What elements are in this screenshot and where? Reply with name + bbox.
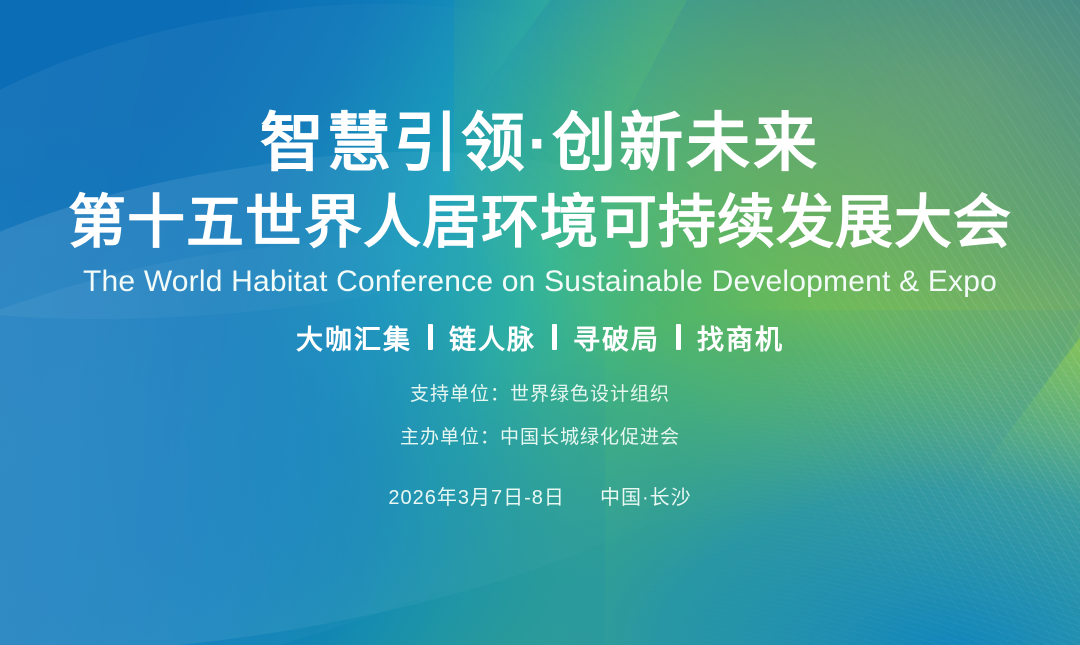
tagline-row: 大咖汇集 链人脉 寻破局 找商机 bbox=[296, 318, 784, 357]
conference-title-chinese: 第十五世界人居环境可持续发展大会 bbox=[68, 193, 1012, 253]
tagline-item-3: 寻破局 bbox=[573, 318, 660, 357]
tagline-item-2: 链人脉 bbox=[449, 318, 536, 357]
tagline-item-4: 找商机 bbox=[697, 318, 784, 357]
event-location: 中国·长沙 bbox=[600, 487, 692, 509]
tagline-separator-icon bbox=[552, 324, 557, 350]
event-date: 2026年3月7日-8日 bbox=[388, 487, 565, 509]
tagline-separator-icon bbox=[428, 324, 433, 350]
conference-title-english: The World Habitat Conference on Sustaina… bbox=[83, 265, 997, 298]
conference-banner: 智慧引领·创新未来 第十五世界人居环境可持续发展大会 The World Hab… bbox=[0, 0, 1080, 645]
organizer-line: 主办单位：中国长城绿化促进会 bbox=[400, 422, 680, 449]
banner-headline: 智慧引领·创新未来 bbox=[260, 110, 820, 177]
banner-content: 智慧引领·创新未来 第十五世界人居环境可持续发展大会 The World Hab… bbox=[0, 0, 1080, 645]
supporter-line: 支持单位：世界绿色设计组织 bbox=[410, 379, 670, 406]
tagline-item-1: 大咖汇集 bbox=[296, 318, 412, 357]
date-location-row: 2026年3月7日-8日 中国·长沙 bbox=[388, 481, 691, 510]
tagline-separator-icon bbox=[676, 324, 681, 350]
